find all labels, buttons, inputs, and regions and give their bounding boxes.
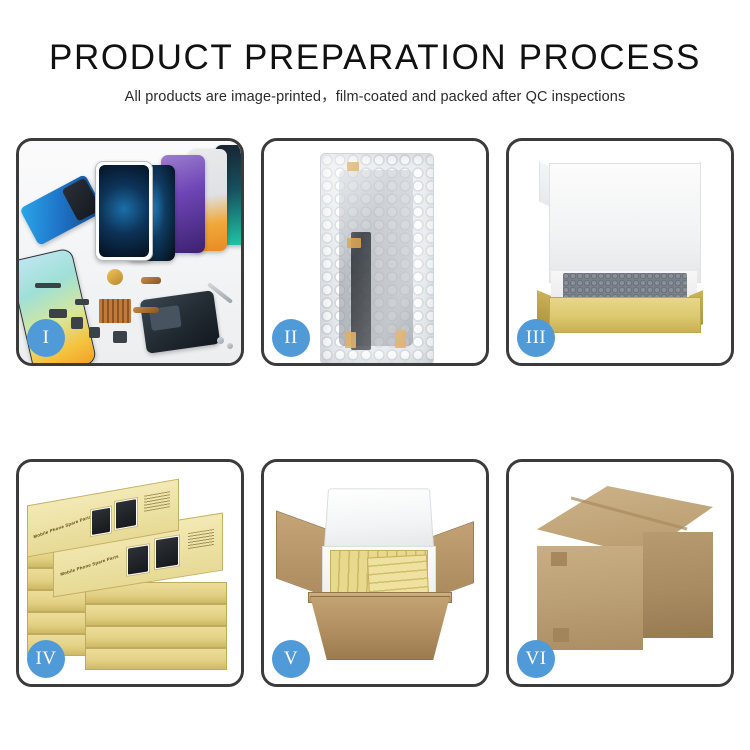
- process-step-panel-3[interactable]: III: [506, 138, 734, 366]
- part-screws-2: [227, 343, 233, 349]
- part-connector: [75, 299, 89, 305]
- box-yellow-front: [549, 297, 701, 333]
- bubble-wrap-sleeve: [320, 153, 434, 363]
- grey-bubble-foam: [563, 273, 687, 299]
- page-title: PRODUCT PREPARATION PROCESS: [0, 38, 750, 78]
- step-badge-3: III: [517, 319, 555, 357]
- box-white-lid: [549, 163, 701, 283]
- carton-tape-lower: [553, 628, 569, 642]
- box-label-text-left: Mobile Phone Spare Parts: [33, 514, 92, 539]
- carton-side-face: [643, 532, 713, 638]
- box-window-r1: [126, 543, 150, 577]
- page-subtitle: All products are image-printed，film-coat…: [0, 88, 750, 106]
- part-circuit-board: [99, 299, 131, 323]
- page-header: PRODUCT PREPARATION PROCESS All products…: [0, 0, 750, 106]
- foam-lid: [324, 488, 434, 550]
- part-screws: [217, 337, 224, 344]
- box-spec-lines-right: [188, 529, 214, 549]
- carton-tape-upper: [551, 552, 567, 566]
- carton-body: [310, 596, 450, 660]
- box-window-l2: [114, 497, 138, 531]
- part-bracket-b: [71, 317, 83, 329]
- stacked-box-r5: [85, 648, 227, 670]
- stacked-box-r4: [85, 626, 227, 648]
- process-step-panel-6[interactable]: VI: [506, 459, 734, 687]
- step-badge-6: VI: [517, 640, 555, 678]
- stacked-box-r3: [85, 604, 227, 626]
- process-step-panel-1[interactable]: I: [16, 138, 244, 366]
- part-speaker: [113, 331, 127, 343]
- process-step-grid: I II: [16, 138, 734, 687]
- part-gold-coil: [107, 269, 123, 285]
- process-step-panel-2[interactable]: II: [261, 138, 489, 366]
- box-window-l1: [90, 505, 112, 537]
- process-step-panel-4[interactable]: Mobile Phone Spare Parts Mobile Phone Sp…: [16, 459, 244, 687]
- part-ribbon: [35, 283, 61, 288]
- phone-back-housing: [140, 290, 221, 354]
- part-flex-cable-b: [133, 307, 159, 313]
- step-badge-4: IV: [27, 640, 65, 678]
- part-bracket-a: [49, 309, 67, 318]
- box-label-text-right: Mobile Phone Spare Parts: [60, 554, 119, 577]
- white-frame-screen: [95, 161, 153, 261]
- part-camera-module: [89, 327, 100, 338]
- step-badge-5: V: [272, 640, 310, 678]
- step-badge-2: II: [272, 319, 310, 357]
- process-step-panel-5[interactable]: V: [261, 459, 489, 687]
- step-badge-1: I: [27, 319, 65, 357]
- part-flex-cable-a: [141, 277, 161, 284]
- box-spec-lines-left: [144, 491, 170, 512]
- box-window-r2: [154, 534, 180, 570]
- plastic-sheen: [321, 154, 433, 363]
